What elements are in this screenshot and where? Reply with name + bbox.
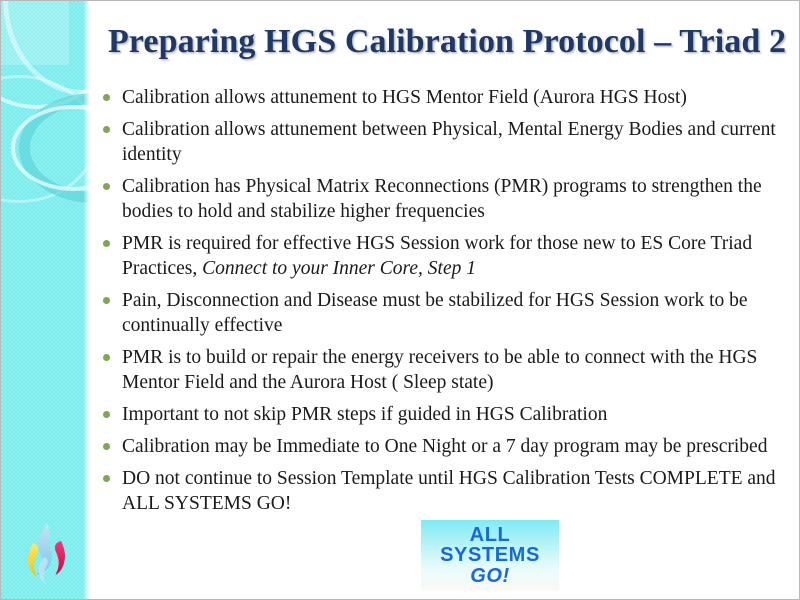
asg-line-systems: SYSTEMS — [440, 545, 540, 566]
all-systems-go-graphic: ALL SYSTEMS GO! — [421, 520, 559, 591]
bullet-text: Calibration has Physical Matrix Reconnec… — [122, 176, 762, 222]
bullet-list: Calibration allows attunement to HGS Men… — [99, 85, 789, 523]
tri-flame-logo — [17, 517, 75, 589]
bullet-text: PMR is to build or repair the energy rec… — [122, 347, 757, 393]
sidebar-edge-highlight — [84, 1, 89, 600]
bullet-item: PMR is to build or repair the energy rec… — [99, 345, 789, 395]
bullet-text: Pain, Disconnection and Disease must be … — [122, 290, 748, 336]
slide-title: Preparing HGS Calibration Protocol – Tri… — [97, 23, 797, 61]
bullet-item: DO not continue to Session Template unti… — [99, 466, 789, 516]
bullet-emphasis: Connect to your Inner Core, Step 1 — [202, 258, 476, 279]
bullet-item: PMR is required for effective HGS Sessio… — [99, 231, 789, 281]
bullet-item: Calibration may be Immediate to One Nigh… — [99, 434, 789, 459]
asg-line-go: GO! — [470, 566, 510, 587]
bullet-text: Calibration allows attunement between Ph… — [122, 119, 776, 165]
bullet-text: Calibration may be Immediate to One Nigh… — [122, 436, 767, 457]
bullet-item: Calibration allows attunement between Ph… — [99, 117, 789, 167]
bullet-text: DO not continue to Session Template unti… — [122, 468, 776, 514]
bullet-item: Calibration allows attunement to HGS Men… — [99, 85, 789, 110]
bullet-item: Important to not skip PMR steps if guide… — [99, 402, 789, 427]
bullet-item: Pain, Disconnection and Disease must be … — [99, 288, 789, 338]
bullet-text: Calibration allows attunement to HGS Men… — [122, 87, 687, 108]
bullet-text: Important to not skip PMR steps if guide… — [122, 404, 607, 425]
decorative-sidebar — [1, 1, 89, 600]
asg-line-all: ALL — [470, 525, 511, 546]
bullet-item: Calibration has Physical Matrix Reconnec… — [99, 174, 789, 224]
presentation-slide: Preparing HGS Calibration Protocol – Tri… — [0, 0, 800, 600]
